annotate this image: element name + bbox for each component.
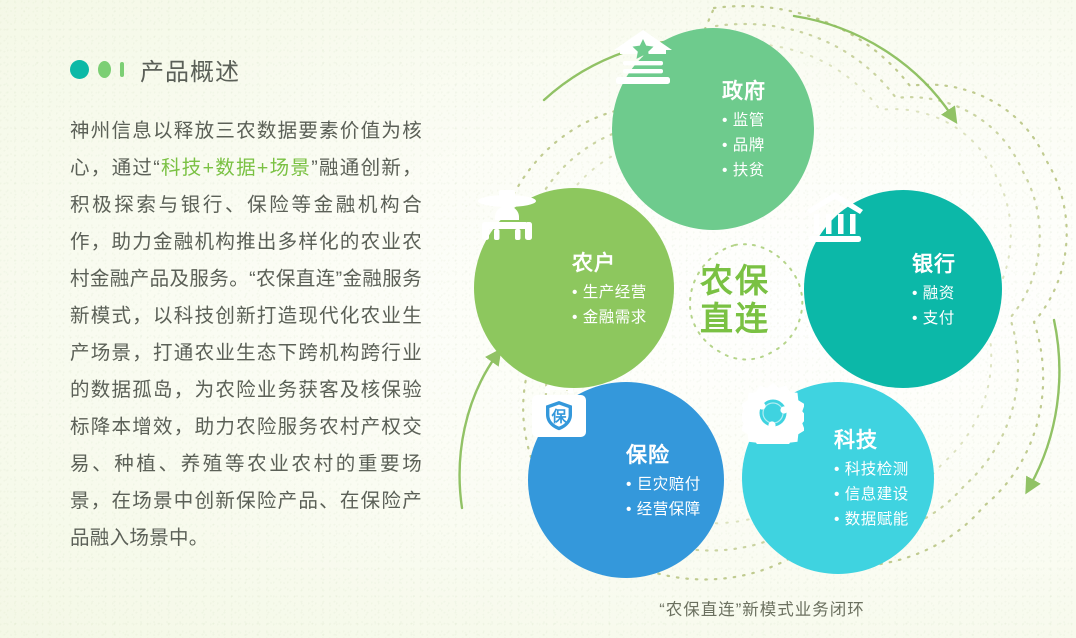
section-heading: 产品概述 xyxy=(70,52,430,87)
center-brand-line-2: 直连 xyxy=(660,300,810,338)
node-bank-item-0: 融资 xyxy=(912,281,956,306)
dot-large-icon xyxy=(70,60,89,79)
dot-medium-icon xyxy=(98,61,111,78)
node-technology-item-2: 数据赋能 xyxy=(834,507,909,532)
node-farmer[interactable]: 农户 生产经营 金融需求 xyxy=(474,188,674,388)
node-insurance-item-1: 经营保障 xyxy=(626,497,701,522)
node-insurance-item-0: 巨灾赔付 xyxy=(626,472,701,497)
page-title: 产品概述 xyxy=(140,52,240,87)
node-technology-item-0: 科技检测 xyxy=(834,457,909,482)
node-bank-item-1: 支付 xyxy=(912,306,956,331)
node-government-title: 政府 xyxy=(722,75,766,105)
node-government-item-0: 监管 xyxy=(722,108,766,133)
node-government[interactable]: 政府 监管 品牌 扶贫 xyxy=(612,28,814,230)
node-technology[interactable]: 科技 科技检测 信息建设 数据赋能 xyxy=(742,382,934,574)
node-government-item-1: 品牌 xyxy=(722,133,766,158)
node-technology-text: 科技 科技检测 信息建设 数据赋能 xyxy=(834,424,909,532)
left-text-column: 产品概述 神州信息以释放三农数据要素价值为核心，通过“科技+数据+场景”融通创新… xyxy=(70,52,430,557)
node-bank-title: 银行 xyxy=(912,248,956,278)
node-insurance-title: 保险 xyxy=(626,439,701,469)
center-brand-label: 农保 直连 xyxy=(660,262,810,338)
node-government-text: 政府 监管 品牌 扶贫 xyxy=(722,75,766,183)
node-farmer-item-0: 生产经营 xyxy=(572,280,647,305)
node-technology-title: 科技 xyxy=(834,424,909,454)
center-brand-line-1: 农保 xyxy=(660,262,810,300)
node-farmer-text: 农户 生产经营 金融需求 xyxy=(572,247,647,330)
flow-arrow-government-to-bank xyxy=(794,16,952,116)
node-bank-text: 银行 融资 支付 xyxy=(912,248,956,331)
body-highlight: 科技+数据+场景 xyxy=(160,157,311,179)
node-farmer-title: 农户 xyxy=(572,247,647,277)
business-loop-diagram: 政府 监管 品牌 扶贫 银行 融资 支付 xyxy=(432,0,1076,638)
node-insurance-text: 保险 巨灾赔付 经营保障 xyxy=(626,439,701,522)
node-farmer-item-1: 金融需求 xyxy=(572,305,647,330)
node-technology-item-1: 信息建设 xyxy=(834,482,909,507)
flow-arrow-bank-to-technology xyxy=(1030,320,1059,486)
body-part-2: ”融通创新，积极探索与银行、保险等金融机构合作，助力金融机构推出多样化的农业农村… xyxy=(70,157,422,549)
body-paragraph: 神州信息以释放三农数据要素价值为核心，通过“科技+数据+场景”融通创新，积极探索… xyxy=(70,113,422,557)
flow-arrow-insurance-to-farmer xyxy=(460,356,496,508)
node-insurance[interactable]: 保 保险 巨灾赔付 经营保障 xyxy=(528,382,724,578)
node-bank[interactable]: 银行 融资 支付 xyxy=(804,190,1002,388)
dot-small-icon xyxy=(120,62,124,77)
svg-text:保: 保 xyxy=(550,408,567,426)
diagram-caption: “农保直连”新模式业务闭环 xyxy=(572,596,952,620)
node-government-item-2: 扶贫 xyxy=(722,158,766,183)
